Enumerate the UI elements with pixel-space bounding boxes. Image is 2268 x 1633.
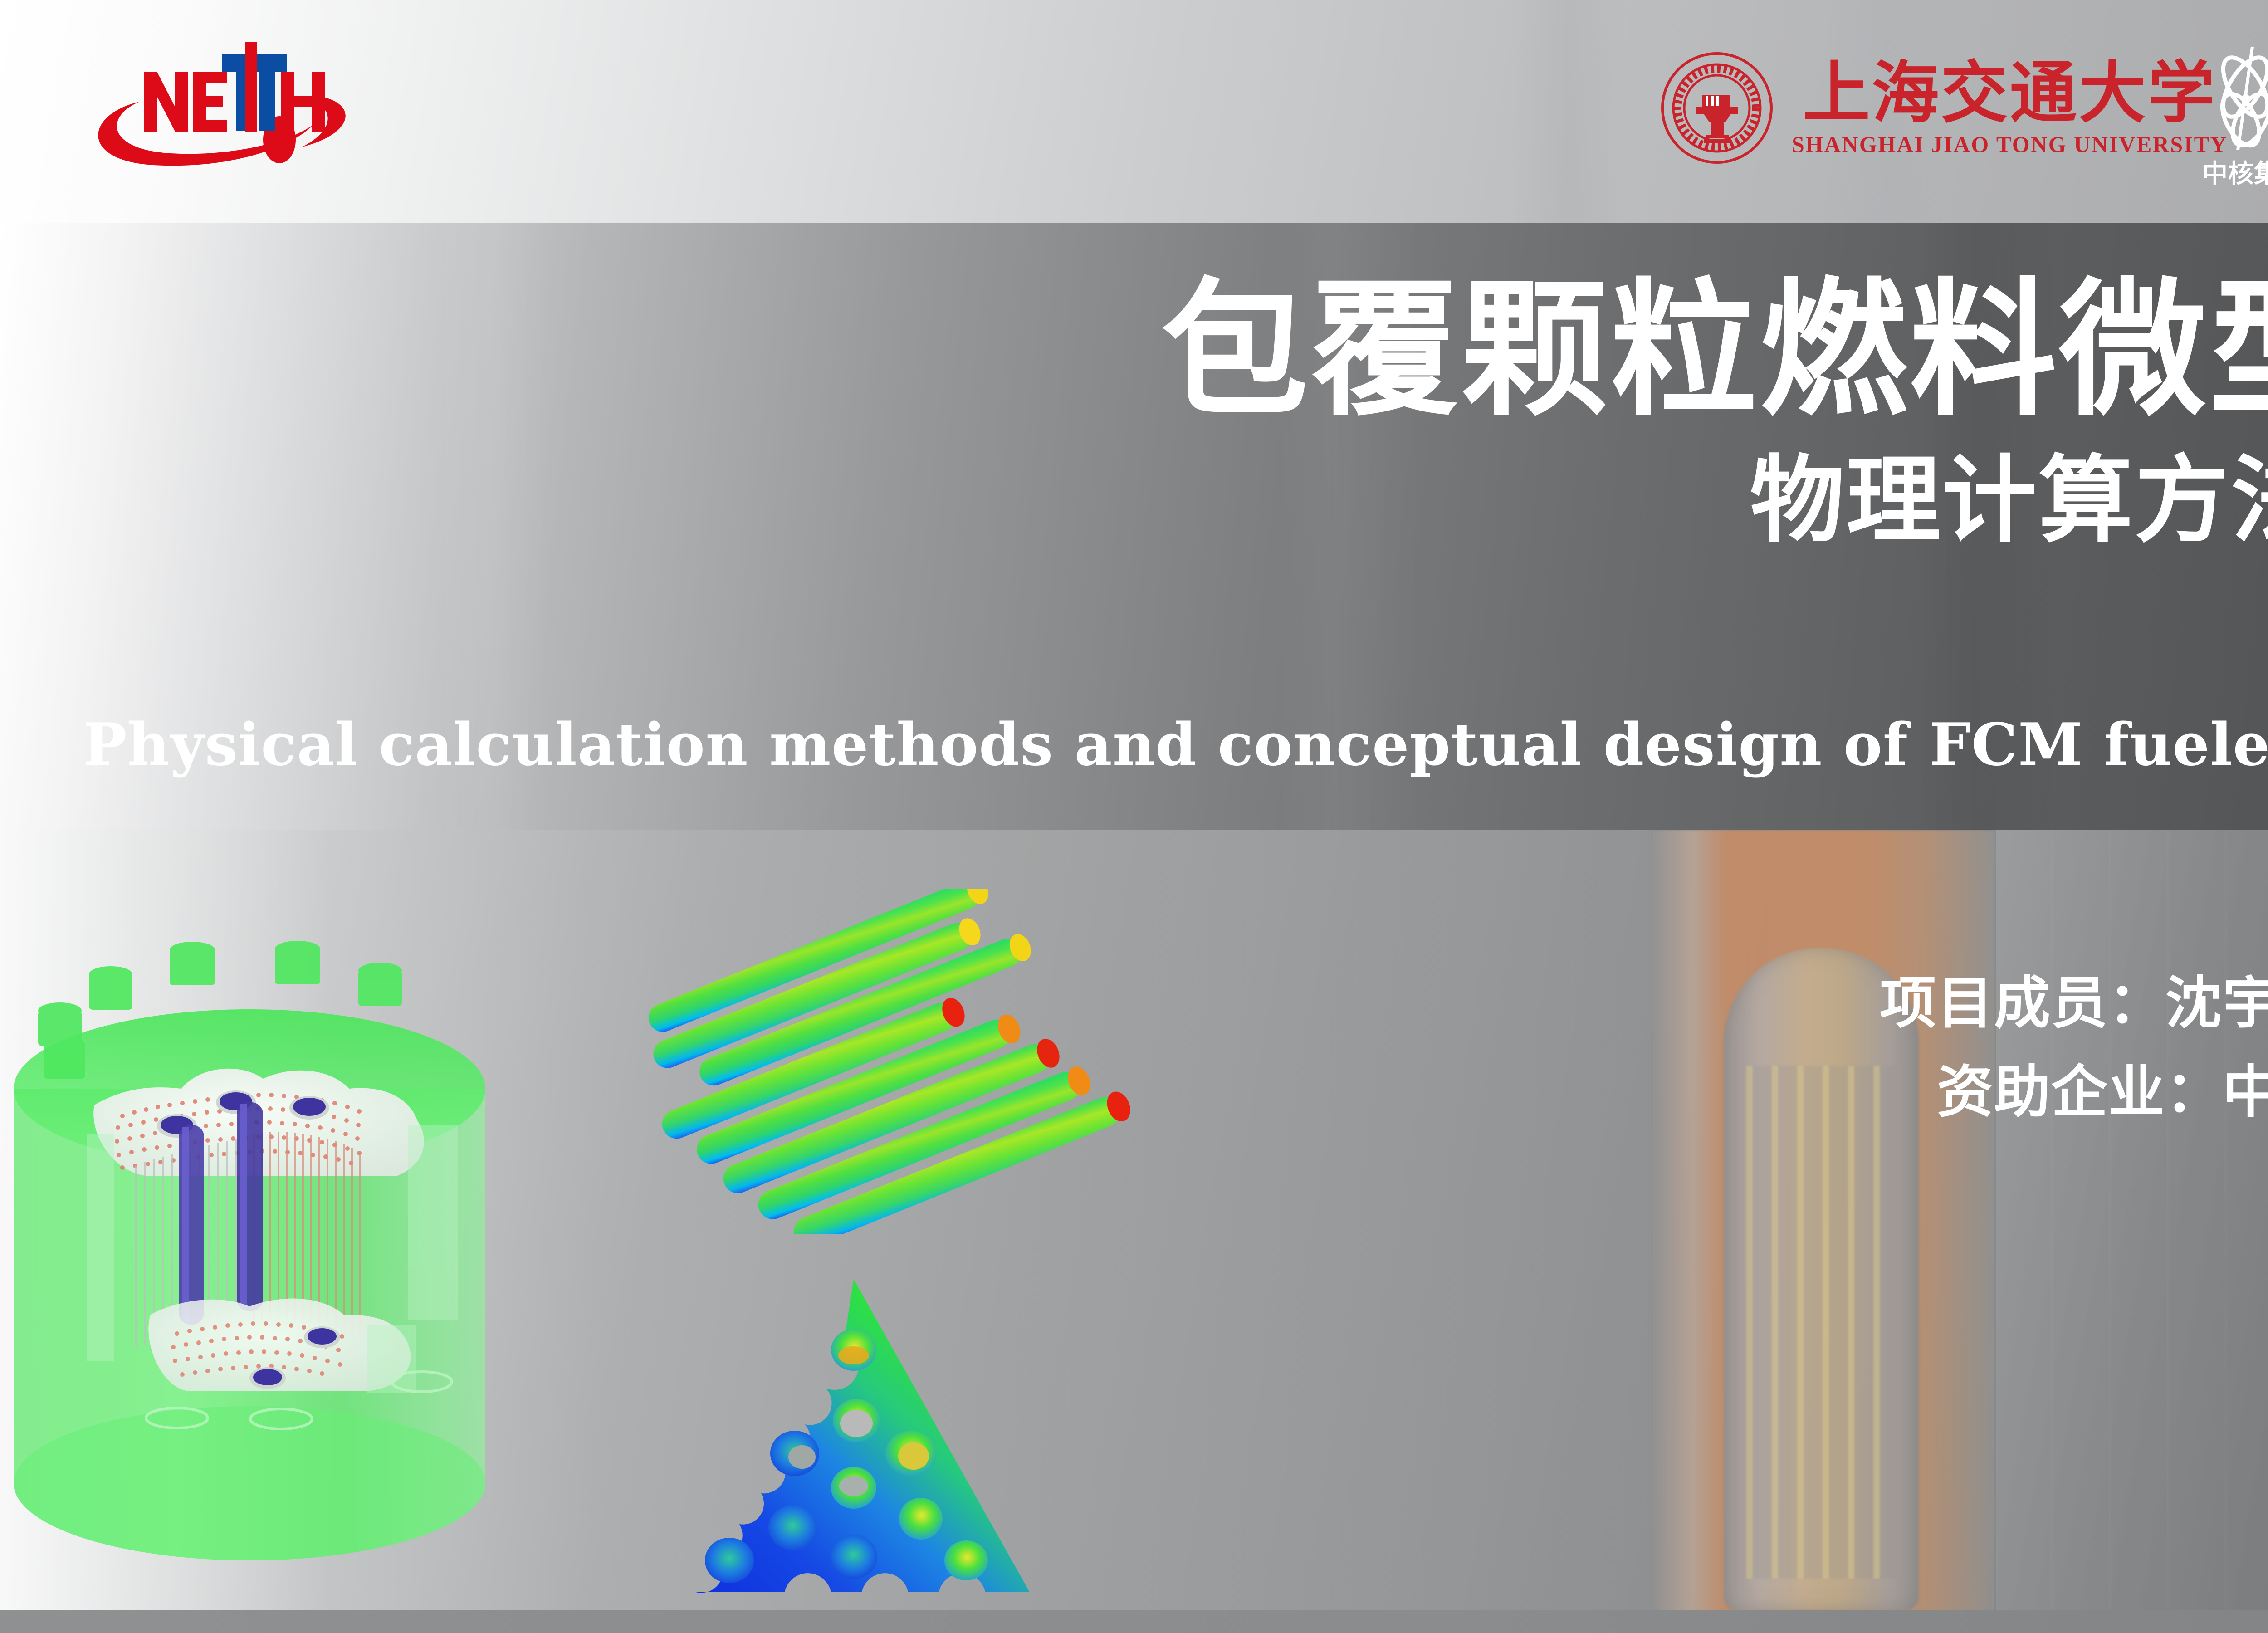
nuclear-power-institute-of-china-logo: 中核集团 中国核动力研究设计院 NUCLEAR POWER INSTITUTE … [2198,27,2268,186]
fuel-rod-temperature-distribution [599,889,1152,1234]
presentation-slide: 上海交通大学 SHANGHAI JIAO TONG UNIVERSITY 中核集… [0,0,2268,1633]
moderator-block-triangle-mesh [649,1234,1048,1633]
credit-project-members: 项目成员：沈宇阳、汪睿翔、胡霁璞 [1880,975,2268,1032]
slide-main-title: 包覆颗粒燃料微型反应堆 [1161,277,2268,424]
atom-icon [2198,42,2268,155]
slide-subtitle-chinese: 物理计算方法与概念设计 [1750,454,2268,548]
neth-logo [76,28,367,173]
reactor-vessel-fuel-rods-photo [1746,1066,1896,1579]
credits-block: 项目成员：沈宇阳、汪睿翔、胡霁璞 资助企业：中国核动力研究设计院 学校指导老师：… [1880,975,2268,1298]
fuel-rod-temperature-graphic [599,889,1152,1234]
sjtu-seal-icon [1660,51,1774,165]
sjtu-chinese-name: 上海交通大学 [1803,59,2217,127]
moderator-block-graphic [649,1234,1048,1633]
sjtu-english-name: SHANGHAI JIAO TONG UNIVERSITY [1792,131,2228,157]
slide-subtitle-english: Physical calculation methods and concept… [0,716,2268,774]
reactor-core-3d-model-graphic [0,853,540,1624]
neth-logo-graphic [76,28,367,173]
npic-group-name: 中核集团 [2202,153,2268,190]
shanghai-jiao-tong-university-logo: 上海交通大学 SHANGHAI JIAO TONG UNIVERSITY [1660,35,2159,181]
credit-funding-enterprise: 资助企业：中国核动力研究设计院 [1937,1064,2268,1120]
reactor-core-3d-model [0,853,540,1624]
